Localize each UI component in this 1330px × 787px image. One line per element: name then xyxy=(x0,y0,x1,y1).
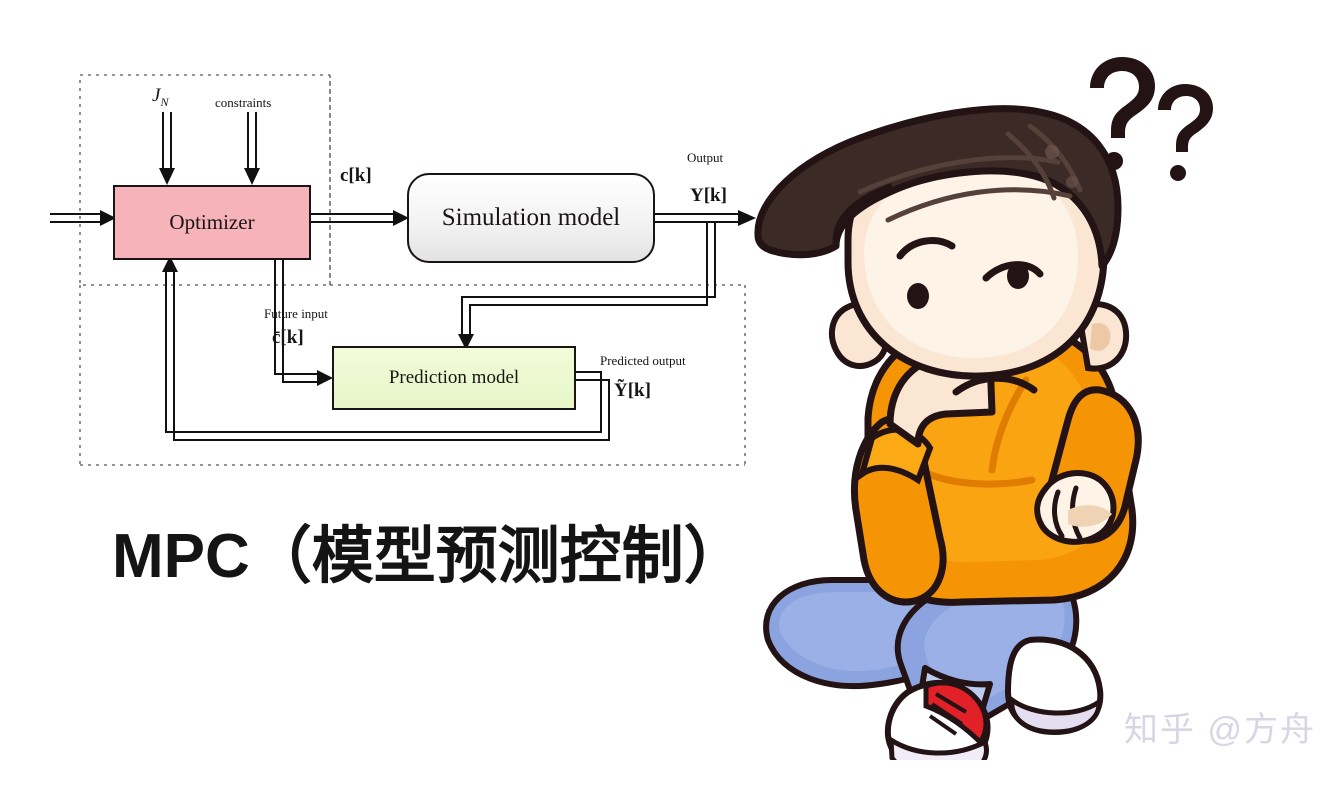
left-eye xyxy=(907,283,929,309)
label-output-symbol: Y[k] xyxy=(690,185,727,207)
label-predicted-output-symbol: Ỹ[k] xyxy=(614,380,651,402)
label-future-input-caption: Future input xyxy=(264,306,328,322)
label-future-input-symbol: c̄[k] xyxy=(272,327,304,349)
arrow-output xyxy=(655,214,745,222)
page-title: MPC（模型预测控制） xyxy=(112,505,746,595)
arrow-cost-head xyxy=(159,168,175,185)
block-optimizer-label: Optimizer xyxy=(169,210,254,235)
zhihu-watermark: 知乎 @方舟 xyxy=(1124,702,1316,751)
arrow-setpoint-in xyxy=(50,214,105,222)
label-constraints: constraints xyxy=(215,95,271,111)
arrow-constraints-head xyxy=(244,168,260,185)
block-prediction-model[interactable]: Prediction model xyxy=(332,346,576,410)
thinking-boy-illustration xyxy=(740,40,1240,760)
arrow-constraints xyxy=(248,112,256,172)
mpc-block-diagram: Optimizer Simulation model Prediction mo… xyxy=(0,0,800,500)
arrow-future-input-head xyxy=(317,370,333,386)
label-cost-function: JN xyxy=(152,85,168,110)
block-simulation-model[interactable]: Simulation model xyxy=(407,173,655,263)
label-output-caption: Output xyxy=(687,150,723,166)
block-simulation-model-label: Simulation model xyxy=(442,204,620,232)
block-optimizer[interactable]: Optimizer xyxy=(113,185,311,260)
screenshot-canvas: Optimizer Simulation model Prediction mo… xyxy=(0,0,1330,787)
arrow-cost-function xyxy=(163,112,171,172)
block-prediction-model-label: Prediction model xyxy=(389,367,519,389)
label-predicted-output-caption: Predicted output xyxy=(600,353,686,369)
arrow-control-input xyxy=(311,214,398,222)
label-control-input: c[k] xyxy=(340,165,372,187)
